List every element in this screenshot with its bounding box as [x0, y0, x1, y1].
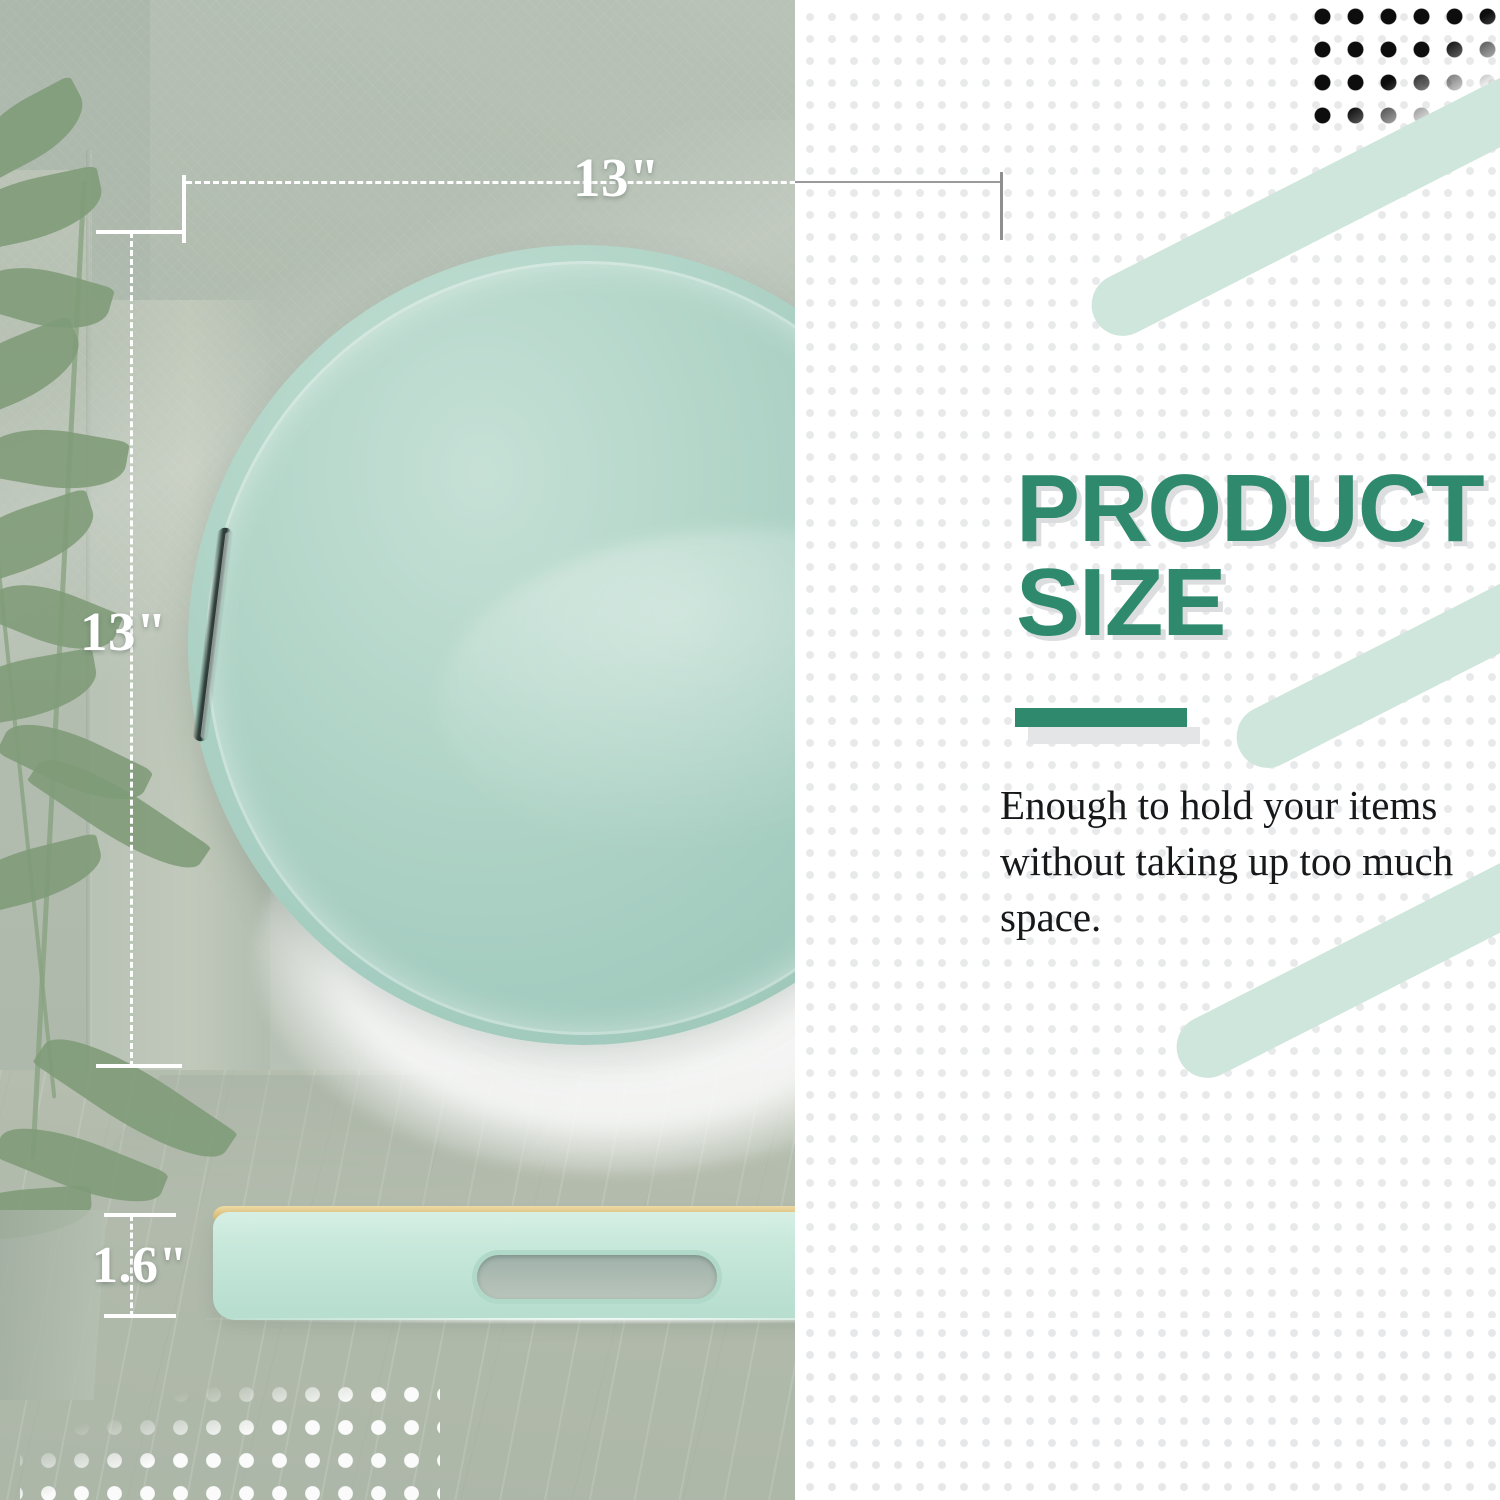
white-dot-pattern-icon [20, 1370, 440, 1500]
dimension-tick-left [182, 175, 186, 243]
body-description: Enough to hold your items without taking… [1000, 778, 1480, 945]
side-view-handle-cutout [477, 1255, 717, 1299]
gray-dot-pattern-bottom-icon [795, 1318, 1500, 1500]
dimension-label-height: 1.6" [92, 1236, 188, 1295]
dimension-tick-right [1000, 172, 1003, 240]
headline-line-1: PRODUCT [1016, 455, 1484, 562]
dimension-tick-height-bottom [104, 1314, 176, 1318]
dimension-line-horizontal-gray [795, 181, 1003, 183]
dimension-tick-bottom [96, 1064, 182, 1068]
right-white-panel [795, 0, 1500, 1500]
dimension-tick-height-top [104, 1213, 176, 1217]
black-dot-pattern-icon [1300, 0, 1500, 137]
dimension-label-width: 13" [573, 146, 660, 209]
dimension-tick-top [96, 230, 182, 234]
accent-bar [1015, 708, 1187, 727]
infographic-canvas: 13" 13" 1.6" PRODUCTSIZE Enough to hold … [0, 0, 1500, 1500]
page-title: PRODUCTSIZE [1016, 462, 1486, 650]
dimension-label-depth: 13" [80, 600, 167, 663]
accent-bar-shadow [1028, 727, 1200, 744]
headline-line-2: SIZE [1016, 549, 1225, 656]
